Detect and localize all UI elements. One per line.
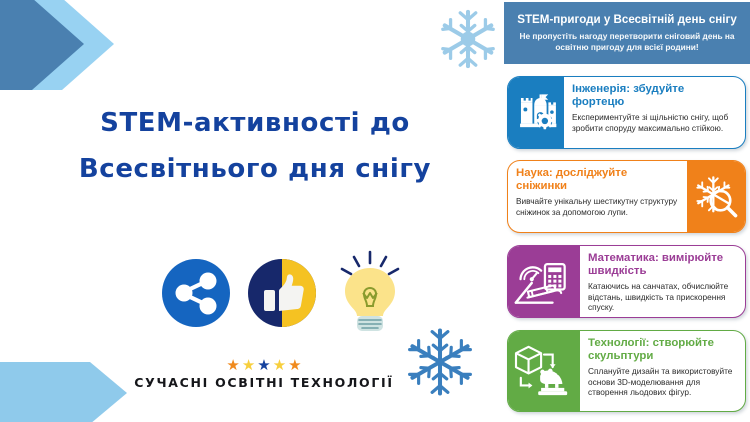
- card-technology[interactable]: Технології: створюйте скульптури Сплануй…: [507, 330, 746, 412]
- card-math-body: Математика: вимірюйте швидкість Катаючис…: [580, 246, 745, 317]
- thumbs-up-icon[interactable]: [248, 259, 316, 327]
- snowflake-magnifier-icon: [687, 161, 745, 232]
- page-title: STEM-активності до Всесвітнього дня сніг…: [60, 100, 450, 192]
- brand-logo: ★ ★ ★ ★ ★ СУЧАСНІ ОСВІТНІ ТЕХНОЛОГІЇ: [134, 358, 394, 390]
- star-icon-2: ★: [242, 358, 255, 373]
- share-icon[interactable]: [162, 259, 230, 327]
- social-icon-row: [162, 248, 402, 338]
- page-title-line-2: Всесвітнього дня снігу: [60, 146, 450, 192]
- card-science-heading: Наука: досліджуйте сніжинки: [516, 167, 679, 193]
- star-icon-1: ★: [226, 358, 239, 373]
- card-math-heading: Математика: вимірюйте швидкість: [588, 252, 737, 278]
- star-icon-3: ★: [257, 358, 270, 373]
- card-science-text: Вивчайте унікальну шестикутну структуру …: [516, 196, 679, 217]
- card-math-text: Катаючись на санчатах, обчислюйте відста…: [588, 281, 737, 312]
- banner-subtitle: Не пропустіть нагоду перетворити снігови…: [510, 31, 744, 53]
- page-title-line-1: STEM-активності до: [60, 100, 450, 146]
- card-technology-heading: Технології: створюйте скульптури: [588, 337, 737, 363]
- card-science[interactable]: Наука: досліджуйте сніжинки Вивчайте уні…: [507, 160, 746, 233]
- left-panel: STEM-активності до Всесвітнього дня сніг…: [0, 0, 500, 422]
- card-engineering-body: Інженерія: збудуйте фортецю Експерименту…: [564, 77, 745, 148]
- star-icon-4: ★: [273, 358, 286, 373]
- card-engineering-text: Експериментуйте зі щільністю снігу, щоб …: [572, 112, 737, 133]
- card-technology-text: Сплануйте дизайн та використовуйте основ…: [588, 366, 737, 397]
- castle-gear-icon: [508, 77, 564, 148]
- brand-name: СУЧАСНІ ОСВІТНІ ТЕХНОЛОГІЇ: [134, 375, 394, 390]
- star-icon-5: ★: [288, 358, 301, 373]
- card-science-body: Наука: досліджуйте сніжинки Вивчайте уні…: [508, 161, 687, 232]
- slide-canvas: STEM-активності до Всесвітнього дня сніг…: [0, 0, 750, 422]
- right-panel: STEM-пригоди у Всесвітній день снігу Не …: [500, 0, 750, 422]
- cube-bear-sculpture-icon: [508, 331, 580, 411]
- sled-calculator-icon: [508, 246, 580, 317]
- card-math[interactable]: Математика: вимірюйте швидкість Катаючис…: [507, 245, 746, 318]
- lightbulb-icon[interactable]: [334, 250, 406, 336]
- card-engineering[interactable]: Інженерія: збудуйте фортецю Експерименту…: [507, 76, 746, 149]
- card-engineering-heading: Інженерія: збудуйте фортецю: [572, 83, 737, 109]
- rating-stars: ★ ★ ★ ★ ★: [134, 358, 394, 373]
- card-technology-body: Технології: створюйте скульптури Сплануй…: [580, 331, 745, 411]
- banner-title: STEM-пригоди у Всесвітній день снігу: [517, 13, 737, 27]
- banner: STEM-пригоди у Всесвітній день снігу Не …: [504, 2, 750, 64]
